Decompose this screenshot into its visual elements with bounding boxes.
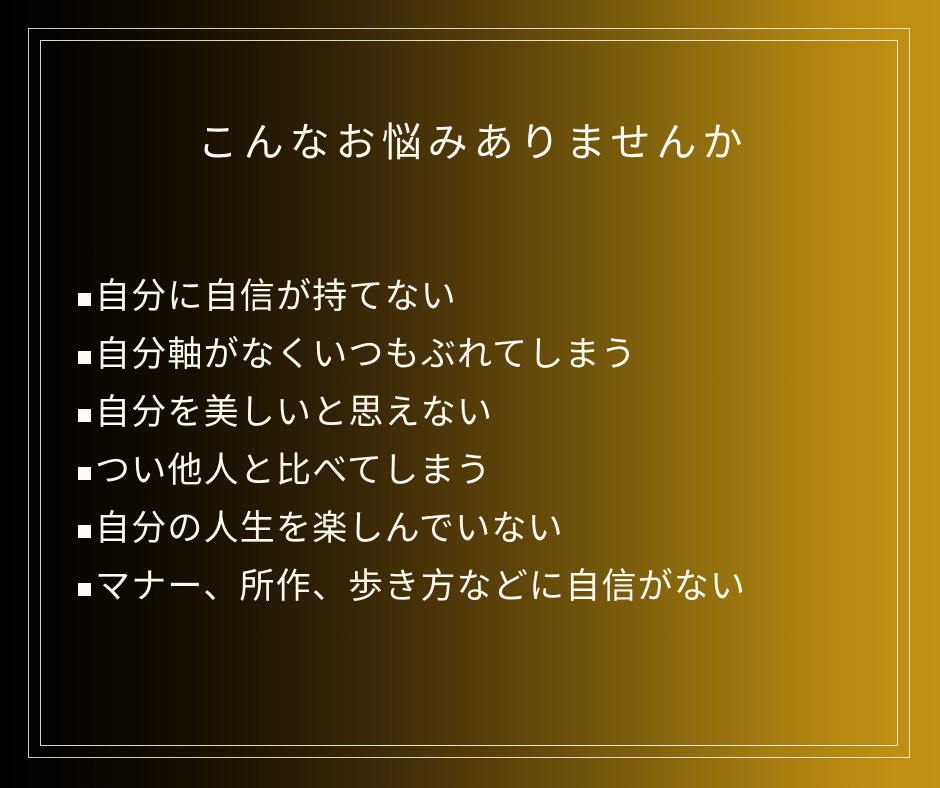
slide-content: こんなお悩みありませんか 自分に自信が持てない 自分軸がなくいつもぶれてしまう … (0, 0, 940, 788)
square-bullet-icon (78, 351, 91, 364)
list-item: 自分を美しいと思えない (78, 384, 918, 442)
list-item-label: 自分軸がなくいつもぶれてしまう (95, 333, 637, 377)
list-item: 自分に自信が持てない (78, 268, 918, 326)
square-bullet-icon (78, 409, 91, 422)
list-item-label: 自分の人生を楽しんでいない (95, 507, 564, 551)
list-item-label: マナー、所作、歩き方などに自信がない (95, 565, 746, 609)
page-title: こんなお悩みありませんか (0, 118, 940, 168)
square-bullet-icon (78, 583, 91, 596)
concerns-list: 自分に自信が持てない 自分軸がなくいつもぶれてしまう 自分を美しいと思えない つ… (78, 268, 918, 616)
list-item-label: つい他人と比べてしまう (95, 449, 492, 493)
list-item: マナー、所作、歩き方などに自信がない (78, 558, 918, 616)
square-bullet-icon (78, 467, 91, 480)
square-bullet-icon (78, 293, 91, 306)
list-item: つい他人と比べてしまう (78, 442, 918, 500)
square-bullet-icon (78, 525, 91, 538)
slide-canvas: こんなお悩みありませんか 自分に自信が持てない 自分軸がなくいつもぶれてしまう … (0, 0, 940, 788)
list-item-label: 自分に自信が持てない (95, 275, 457, 319)
list-item-label: 自分を美しいと思えない (95, 391, 493, 435)
list-item: 自分軸がなくいつもぶれてしまう (78, 326, 918, 384)
list-item: 自分の人生を楽しんでいない (78, 500, 918, 558)
